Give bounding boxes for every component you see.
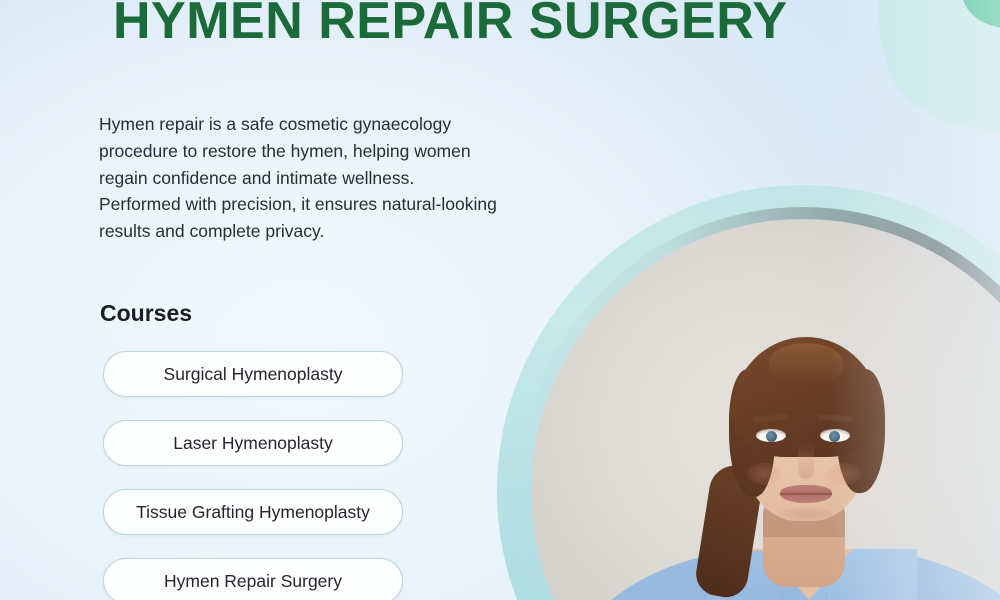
course-pill-surgical-hymenoplasty[interactable]: Surgical Hymenoplasty (103, 351, 403, 397)
course-pill-label: Surgical Hymenoplasty (164, 364, 343, 385)
course-pill-laser-hymenoplasty[interactable]: Laser Hymenoplasty (103, 420, 403, 466)
course-pill-label: Hymen Repair Surgery (164, 571, 342, 592)
cheek-right (827, 463, 861, 485)
course-pill-tissue-grafting-hymenoplasty[interactable]: Tissue Grafting Hymenoplasty (103, 489, 403, 535)
page-title: HYMEN REPAIR SURGERY (113, 0, 788, 51)
lip-line (780, 493, 832, 495)
course-pill-label: Laser Hymenoplasty (173, 433, 333, 454)
hair-parting (769, 343, 843, 381)
nose (798, 443, 814, 479)
chin-shadow (779, 507, 833, 521)
courses-list: Surgical Hymenoplasty Laser Hymenoplasty… (103, 351, 403, 600)
clinician-photo (531, 219, 1000, 600)
portrait-illustration (531, 219, 1000, 600)
poster-canvas: HYMEN REPAIR SURGERY Hymen repair is a s… (0, 0, 1000, 600)
portrait-circle-frame (483, 171, 1000, 600)
iris-right (829, 431, 840, 442)
intro-paragraph: Hymen repair is a safe cosmetic gynaecol… (99, 111, 499, 245)
iris-left (766, 431, 777, 442)
courses-heading: Courses (100, 300, 192, 327)
course-pill-hymen-repair-surgery[interactable]: Hymen Repair Surgery (103, 558, 403, 600)
cheek-left (747, 463, 781, 485)
mint-blob-decoration (850, 0, 1000, 160)
course-pill-label: Tissue Grafting Hymenoplasty (136, 502, 370, 523)
